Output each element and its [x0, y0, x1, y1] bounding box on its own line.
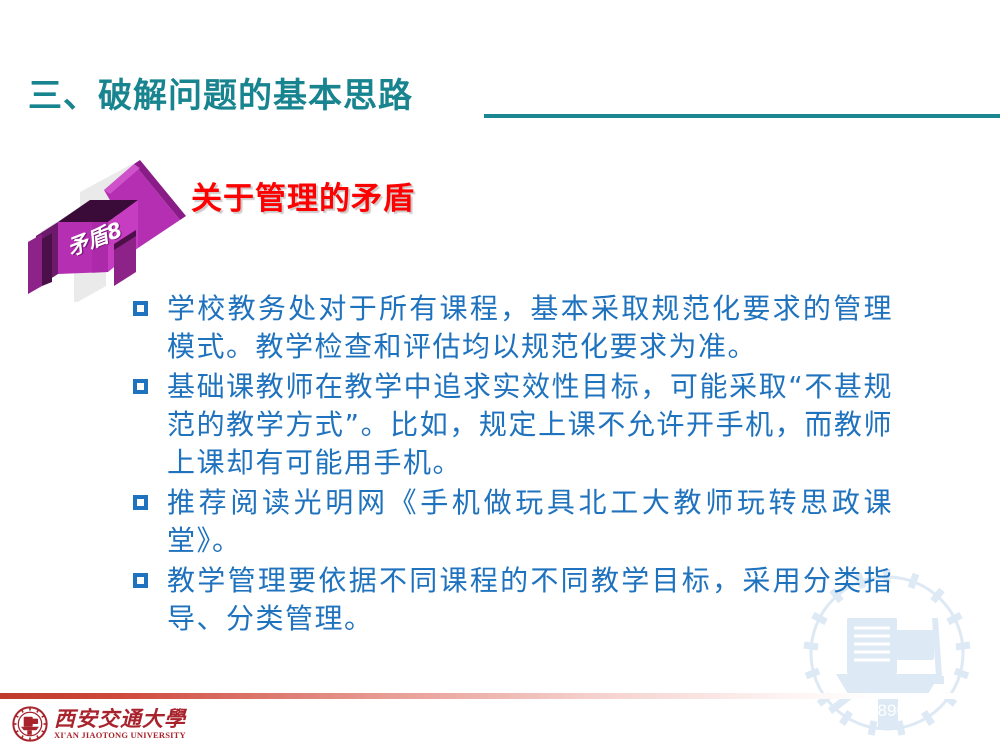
footer-divider: [0, 693, 1000, 699]
square-bullet-icon: [133, 573, 148, 588]
list-item: 推荐阅读光明网《手机做玩具北工大教师玩转思政课堂》。: [133, 484, 893, 560]
sub-heading: 关于管理的矛盾: [191, 173, 415, 218]
arrow-badge: 矛盾8: [18, 152, 190, 302]
list-item: 基础课教师在教学中追求实效性目标，可能采取“不甚规范的教学方式”。比如，规定上课…: [133, 368, 893, 482]
list-item-text: 基础课教师在教学中追求实效性目标，可能采取“不甚规范的教学方式”。比如，规定上课…: [167, 368, 893, 482]
square-bullet-icon: [133, 379, 148, 394]
arrow-3d-icon: [18, 152, 190, 302]
list-item-text: 推荐阅读光明网《手机做玩具北工大教师玩转思政课堂》。: [167, 484, 893, 560]
university-name-en: XI'AN JIAOTONG UNIVERSITY: [54, 730, 186, 741]
list-item: 学校教务处对于所有课程，基本采取规范化要求的管理模式。教学检查和评估均以规范化要…: [133, 290, 893, 366]
bullet-list: 学校教务处对于所有课程，基本采取规范化要求的管理模式。教学检查和评估均以规范化要…: [133, 290, 893, 640]
university-seal-icon: [12, 706, 48, 742]
university-name-cn: 西安交通大學: [54, 708, 186, 730]
square-bullet-icon: [133, 495, 148, 510]
university-logo-text: 西安交通大學 XI'AN JIAOTONG UNIVERSITY: [54, 708, 186, 741]
list-item-text: 学校教务处对于所有课程，基本采取规范化要求的管理模式。教学检查和评估均以规范化要…: [167, 290, 893, 366]
list-item-text: 教学管理要依据不同课程的不同教学目标，采用分类指导、分类管理。: [167, 562, 893, 638]
page-title: 三、破解问题的基本思路: [28, 74, 413, 118]
watermark-year-text: 1896: [868, 701, 906, 720]
square-bullet-icon: [133, 301, 148, 316]
section-title-row: 三、破解问题的基本思路: [0, 74, 1000, 128]
title-underline-rule: [484, 114, 1000, 118]
list-item: 教学管理要依据不同课程的不同教学目标，采用分类指导、分类管理。: [133, 562, 893, 638]
university-logo: 西安交通大學 XI'AN JIAOTONG UNIVERSITY: [12, 702, 212, 746]
slide-canvas: 1896 三、破解问题的基本思路: [0, 0, 1000, 750]
